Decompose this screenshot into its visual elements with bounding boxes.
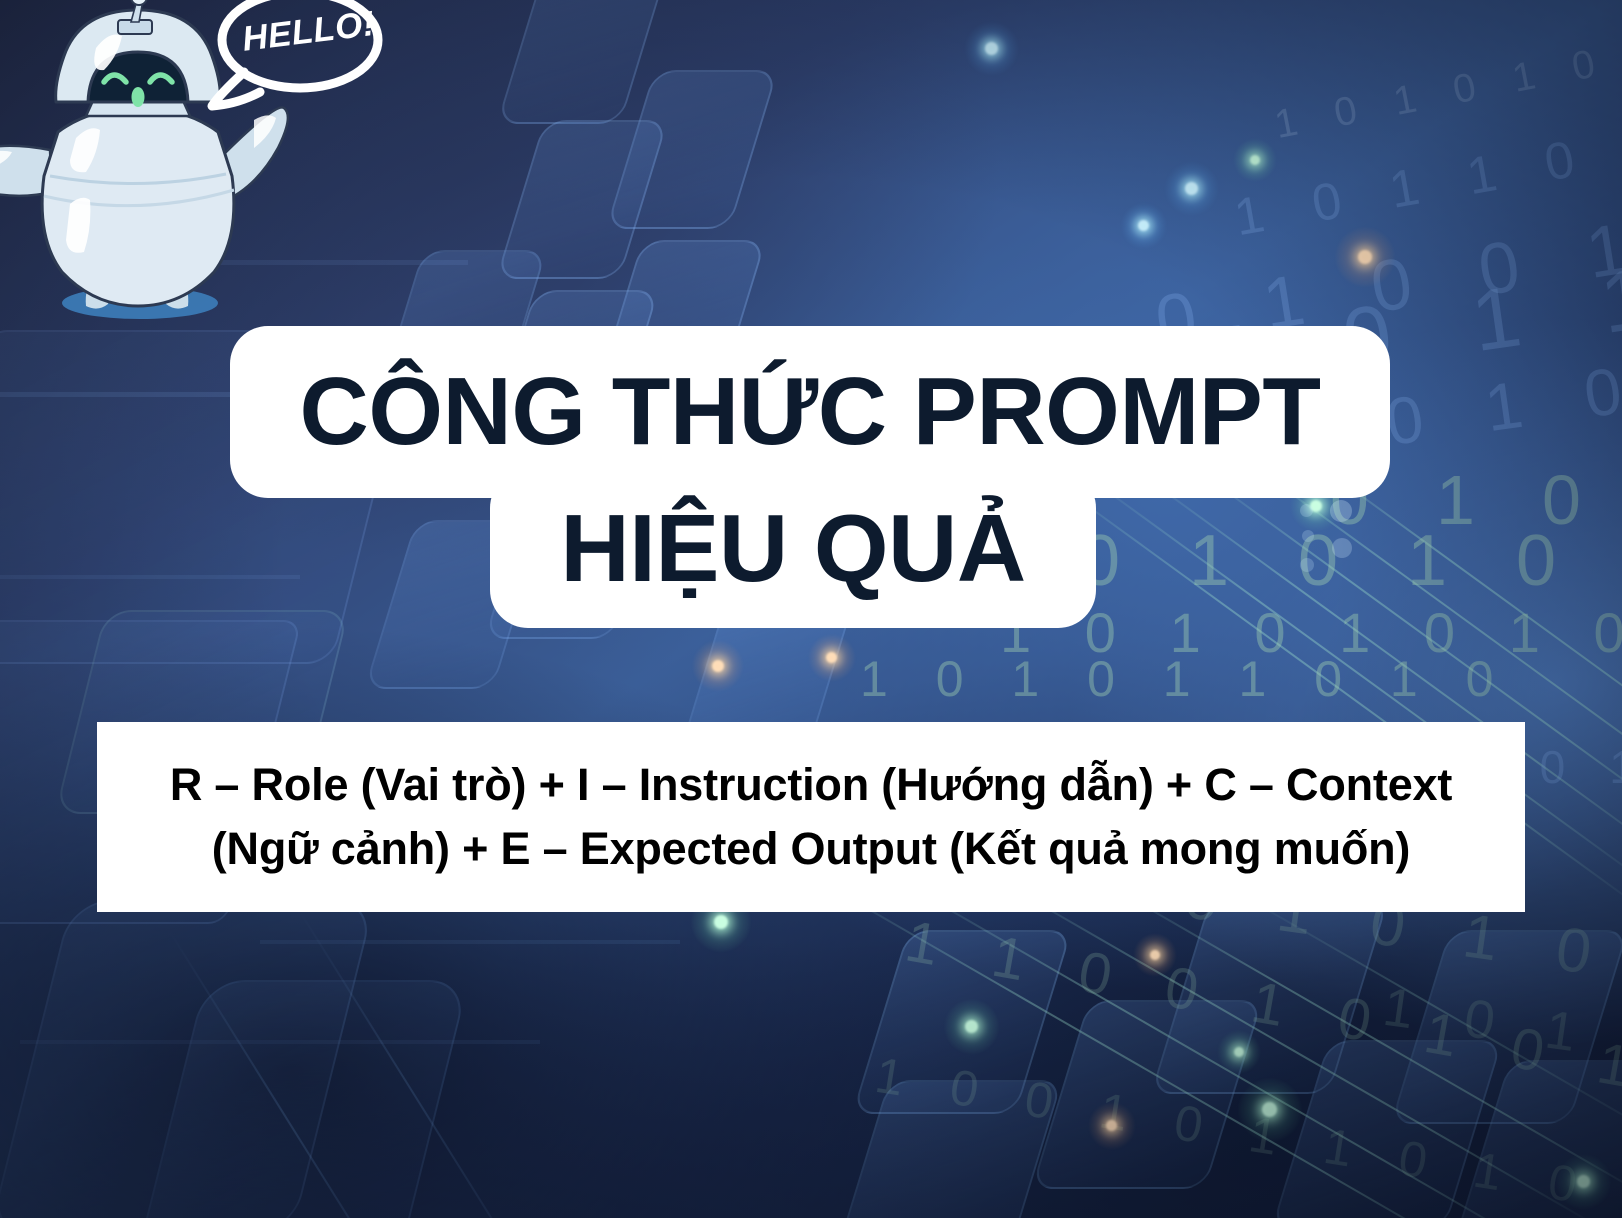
slide-canvas: 1 0 1 0 1 0 0 1 0 1 1 0 1 1 0 0 1 0 1 0 …	[0, 0, 1622, 1218]
formula-line-2: (Ngữ cảnh) + E – Expected Output (Kết qu…	[212, 817, 1410, 881]
formula-box: R – Role (Vai trò) + I – Instruction (Hư…	[97, 722, 1525, 912]
robot-mascot: HELLO!	[0, 0, 412, 330]
page-title-line-2: HIỆU QUẢ	[560, 501, 1025, 597]
page-title-line-1: CÔNG THỨC PROMPT	[300, 364, 1321, 460]
robot-antenna-ball	[131, 0, 147, 5]
title-card-secondary: HIỆU QUẢ	[490, 470, 1096, 628]
formula-line-1: R – Role (Vai trò) + I – Instruction (Hư…	[170, 753, 1452, 817]
robot-mouth	[132, 87, 145, 107]
